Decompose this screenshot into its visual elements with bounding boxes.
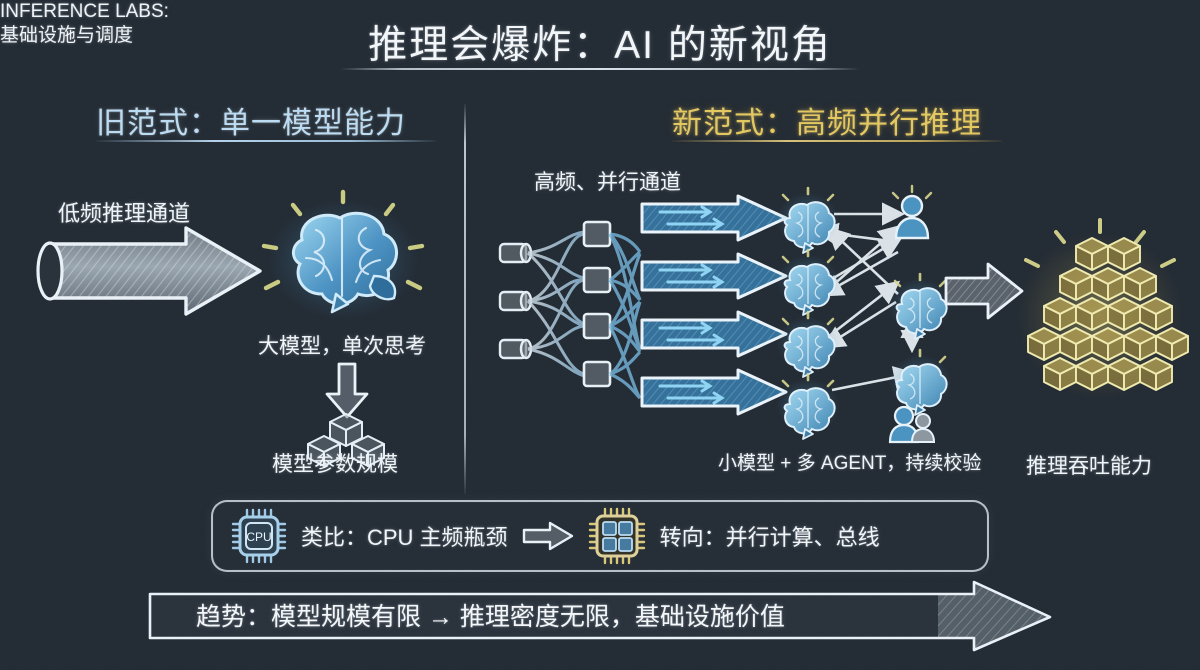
title-underline: [340, 68, 860, 70]
left-panel-heading: 旧范式：单一模型能力: [96, 98, 406, 142]
agents-label: 小模型 + 多 AGENT，持续校验: [718, 448, 981, 475]
cable-network-icon: [500, 222, 640, 412]
slide-canvas: 推理会爆炸：AI 的新视角 旧范式：单一模型能力 新范式：高频并行推理 低频推理…: [0, 0, 1200, 670]
golden-cube-pyramid-icon: [1014, 212, 1186, 412]
right-arrow-icon: [522, 521, 574, 551]
low-frequency-pipe-label: 低频推理通道: [58, 196, 190, 228]
right-heading-underline: [672, 140, 1002, 142]
panel-divider: [464, 104, 466, 494]
multicore-chip-icon: [588, 507, 646, 565]
left-heading-underline: [96, 140, 436, 142]
grey-arrow-icon: [944, 260, 1024, 322]
glowing-brain-icon: [258, 196, 428, 336]
cpu-chip-label: CPU: [246, 530, 271, 544]
cpu-bottleneck-text: 类比：CPU 主频瓶颈: [301, 520, 508, 552]
big-model-caption: 大模型，单次思考: [258, 330, 426, 360]
cpu-analogy-card: CPU 类比：CPU 主频瓶颈: [211, 500, 989, 572]
model-params-caption: 模型参数规模: [272, 448, 398, 478]
person-icon: [890, 407, 934, 442]
person-icon: [893, 186, 931, 238]
page-title: 推理会爆炸：AI 的新视角: [0, 14, 1200, 70]
throughput-caption: 推理吞吐能力: [1026, 450, 1152, 480]
thick-chalk-arrow-icon: [36, 226, 266, 318]
right-panel-heading: 新范式：高频并行推理: [672, 98, 982, 142]
parallel-channel-arrows-icon: [634, 196, 794, 418]
cpu-chip-icon: CPU: [231, 508, 287, 564]
parallel-compute-text: 转向：并行计算、总线: [660, 520, 880, 552]
high-frequency-channels-label: 高频、并行通道: [534, 166, 681, 196]
trend-banner-text: 趋势：模型规模有限 → 推理密度无限，基础设施价值: [196, 597, 976, 633]
